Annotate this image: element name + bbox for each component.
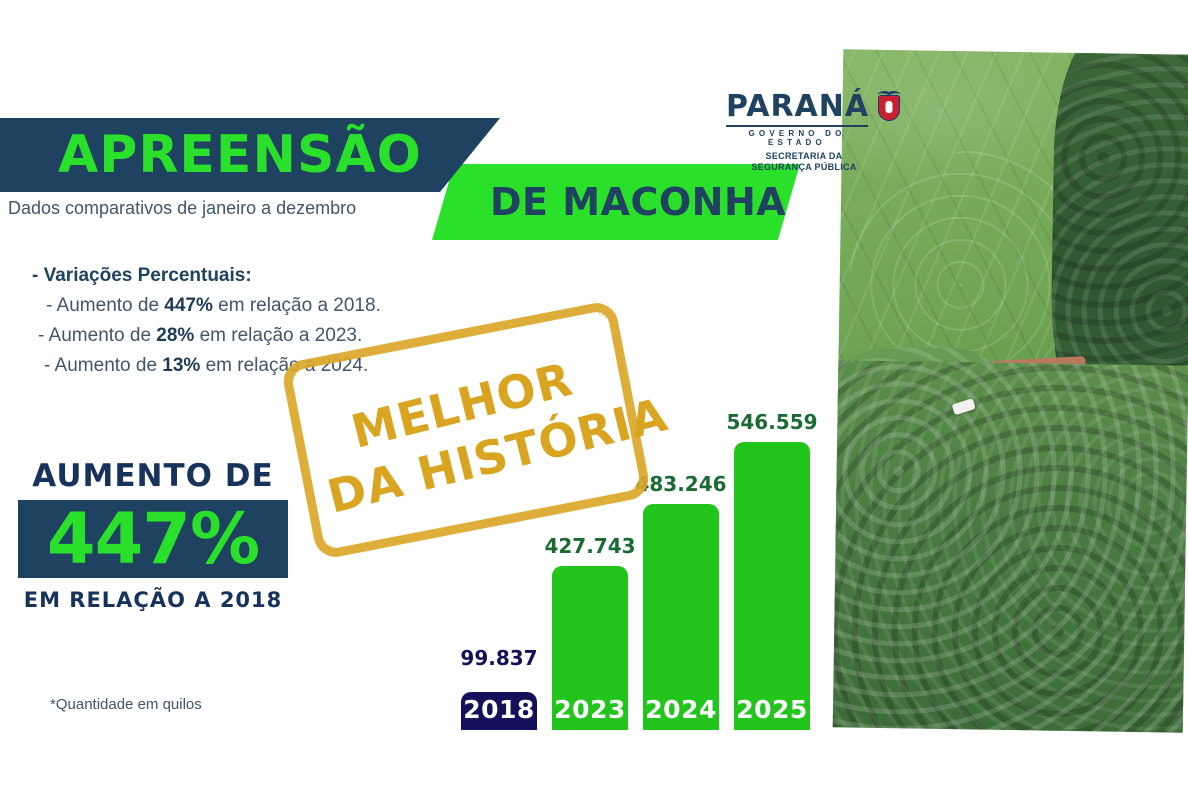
footnote-unit: *Quantidade em quilos — [50, 696, 202, 713]
bar-category-label: 2025 — [734, 695, 810, 724]
highlight-increase-block: AUMENTO DE 447% EM RELAÇÃO A 2018 — [18, 458, 288, 612]
list-item-prefix: - Aumento de — [46, 295, 164, 316]
logo-secretariat-line2: SEGURANÇA PÚBLICA — [726, 162, 882, 173]
highlight-value-box: 447% — [18, 500, 288, 578]
bar-category-label: 2018 — [461, 695, 537, 724]
logo-top-row: PARANÁ GOVERNO DO ESTADO — [726, 92, 896, 147]
list-item-suffix: em relação a 2023. — [194, 325, 362, 346]
logo-government-label: GOVERNO DO ESTADO — [726, 125, 868, 147]
bar-value-label: 427.743 — [544, 534, 635, 558]
title-banner-primary: APREENSÃO — [0, 118, 500, 192]
list-item-prefix: - Aumento de — [44, 355, 162, 376]
list-item-value: 447% — [164, 295, 213, 316]
forest-bottom — [833, 360, 1188, 733]
coat-of-arms-icon — [875, 88, 903, 122]
title-banner-secondary: DE MACONHA — [432, 164, 800, 240]
list-item-value: 13% — [162, 355, 200, 376]
list-item-prefix: - Aumento de — [38, 325, 156, 346]
page-title: APREENSÃO — [58, 125, 422, 185]
shield-icon — [878, 95, 900, 121]
bar-category-label: 2024 — [643, 695, 719, 724]
list-item-suffix: em relação a 2018. — [213, 295, 381, 316]
list-item-value: 28% — [156, 325, 194, 346]
highlight-top-label: AUMENTO DE — [18, 458, 288, 494]
infographic-canvas: APREENSÃO DE MACONHA Dados comparativos … — [0, 0, 1188, 792]
page-subtitle-banner: DE MACONHA — [490, 180, 786, 224]
highlight-bottom-label: EM RELAÇÃO A 2018 — [18, 588, 288, 612]
list-item: - Aumento de 447% em relação a 2018. — [46, 295, 470, 317]
bar-category-label: 2023 — [552, 695, 628, 724]
logo-state-name: PARANÁ — [726, 92, 869, 122]
bar-value-label: 546.559 — [726, 410, 817, 434]
bar-rect — [734, 442, 810, 730]
period-subtitle: Dados comparativos de janeiro a dezembro — [8, 198, 356, 219]
logo-secretariat: SECRETARIA DA SEGURANÇA PÚBLICA — [726, 151, 882, 174]
highlight-value: 447% — [47, 504, 259, 574]
parana-government-logo: PARANÁ GOVERNO DO ESTADO SECRETARIA DA S… — [726, 92, 896, 174]
list-heading: - Variações Percentuais: — [32, 265, 470, 287]
bar-value-label: 99.837 — [460, 646, 537, 670]
logo-secretariat-line1: SECRETARIA DA — [726, 151, 882, 162]
